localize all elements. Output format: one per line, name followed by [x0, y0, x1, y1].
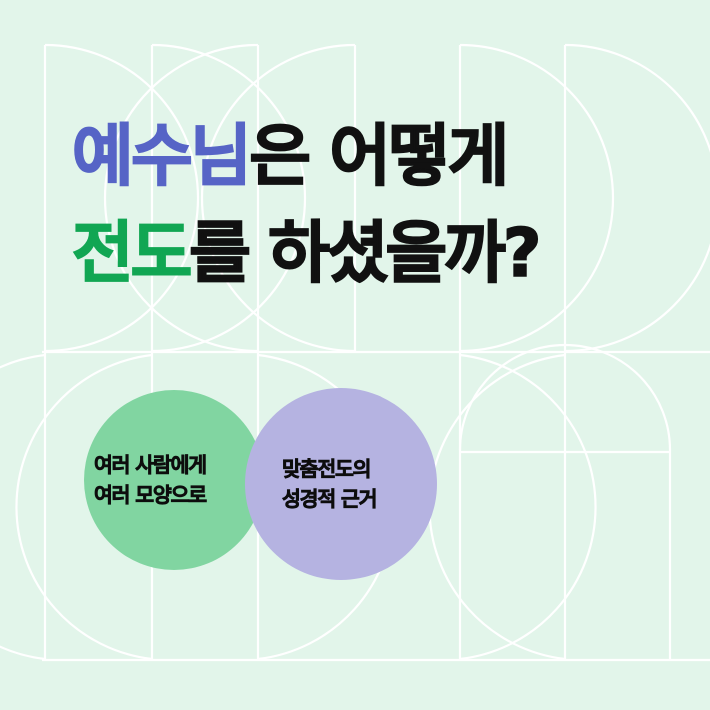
headline-accent-green: 전도 — [72, 214, 189, 292]
bubble-purple: 맞춤전도의 성경적 근거 — [245, 388, 437, 580]
poster-canvas: 예수님은 어떻게 전도를 하셨을까? 여러 사람에게 여러 모양으로 맞춤전도의… — [0, 0, 710, 710]
headline-line-1: 예수님은 어떻게 — [72, 108, 672, 205]
headline-line-1-rest: 은 어떻게 — [249, 117, 506, 195]
bubble-green-line-2: 여러 모양으로 — [94, 480, 206, 510]
bubble-purple-line-1: 맞춤전도의 — [282, 454, 370, 484]
bubble-green-line-1: 여러 사람에게 — [94, 450, 206, 480]
bubble-group: 여러 사람에게 여러 모양으로 맞춤전도의 성경적 근거 — [0, 0, 710, 710]
bubble-purple-line-2: 성경적 근거 — [282, 484, 376, 514]
headline-line-2-rest: 를 하셨을까? — [189, 214, 538, 292]
headline: 예수님은 어떻게 전도를 하셨을까? — [72, 108, 672, 302]
headline-line-2: 전도를 하셨을까? — [72, 205, 672, 302]
bubble-green: 여러 사람에게 여러 모양으로 — [84, 390, 264, 570]
headline-accent-blue: 예수님 — [72, 117, 249, 195]
